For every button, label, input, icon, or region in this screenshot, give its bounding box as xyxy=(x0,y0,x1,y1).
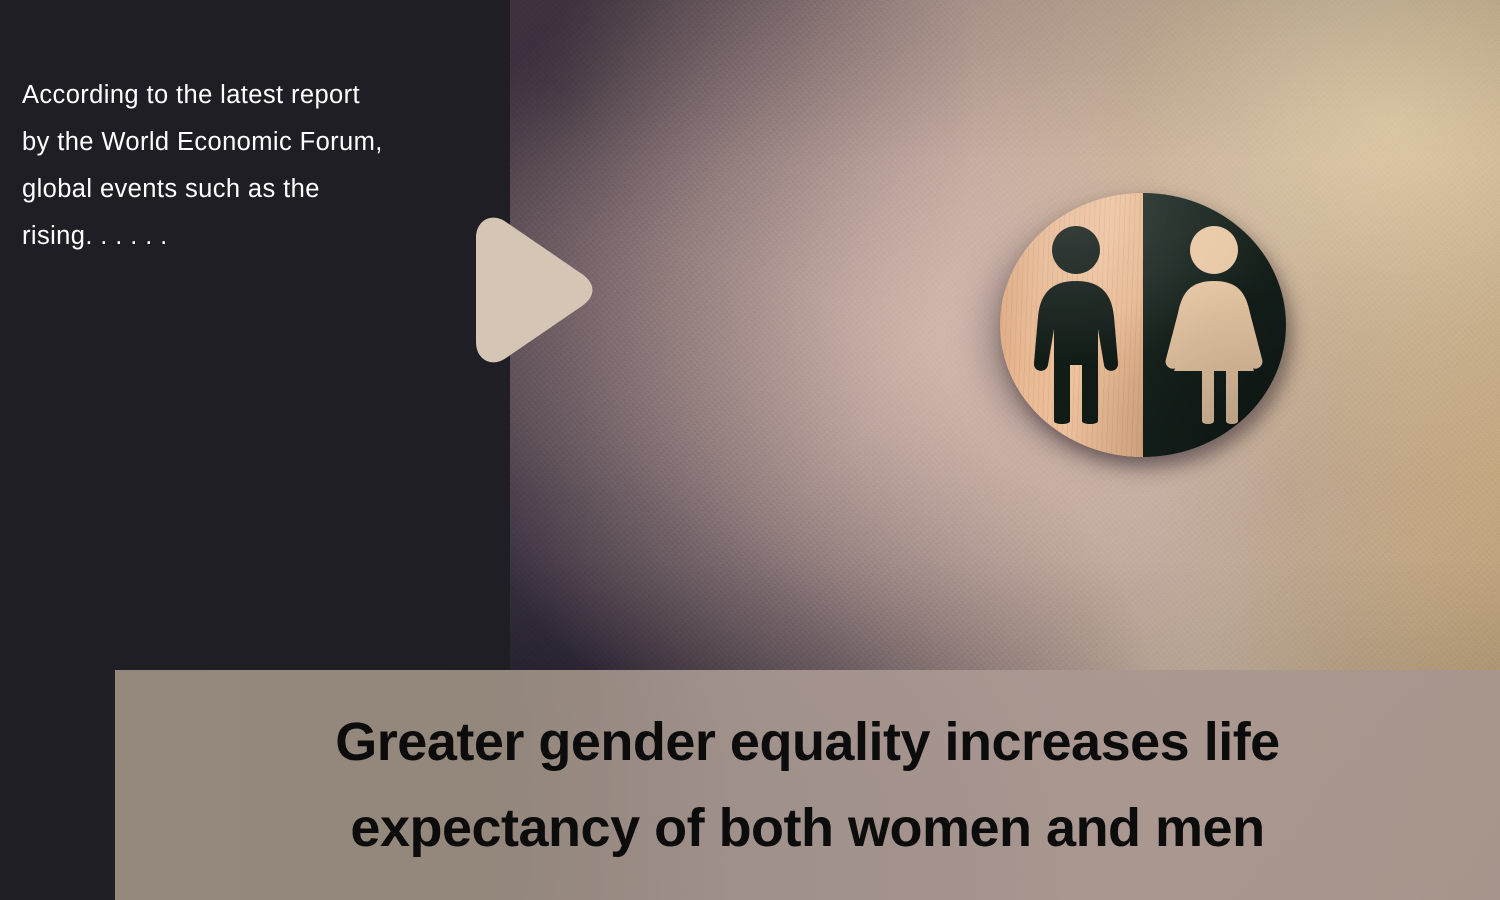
article-headline: Greater gender equality increases life e… xyxy=(218,699,1398,871)
headline-bar: Greater gender equality increases life e… xyxy=(115,670,1500,900)
article-hero-card: According to the latest report by the Wo… xyxy=(0,0,1500,900)
article-excerpt: According to the latest report by the Wo… xyxy=(22,72,502,260)
play-triangle-icon xyxy=(462,210,598,370)
play-button[interactable] xyxy=(462,210,598,370)
